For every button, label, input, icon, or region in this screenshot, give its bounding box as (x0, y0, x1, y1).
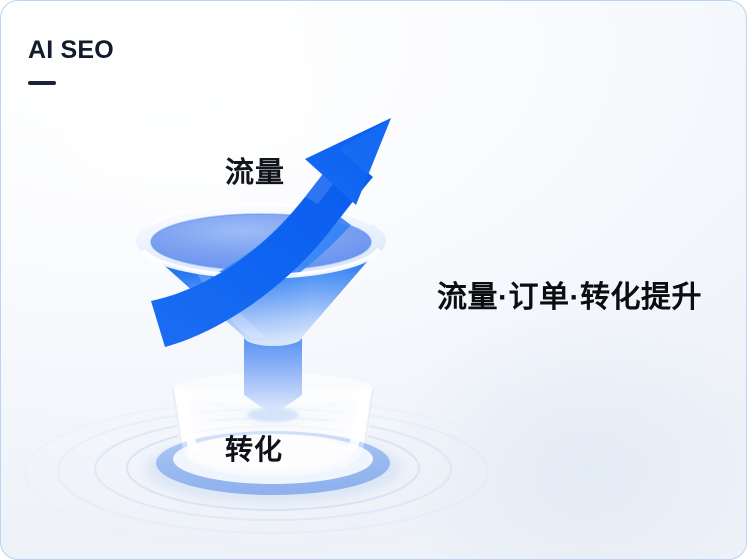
slide-canvas: AI SEO 流量·订单·转化提升 (0, 0, 747, 560)
funnel-label-conversion: 转化 (225, 433, 283, 467)
funnel-label-traffic: 流量 (225, 156, 285, 190)
funnel-illustration: 流量 转化 (1, 1, 561, 560)
stem-drip-glow (247, 408, 299, 422)
